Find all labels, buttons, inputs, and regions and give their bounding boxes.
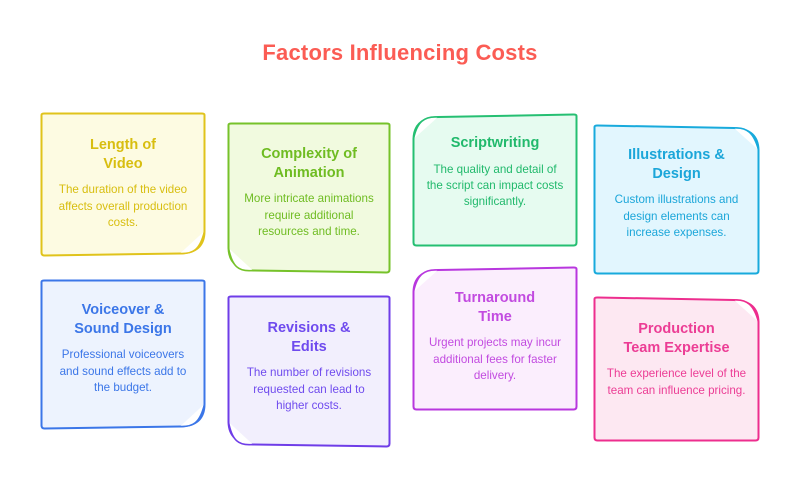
- card-heading: Complexity of Animation: [240, 145, 378, 182]
- infographic-canvas: Factors Influencing Costs Length of Vide…: [0, 0, 800, 503]
- factor-card-length-of-video[interactable]: Length of VideoThe duration of the video…: [40, 112, 206, 257]
- card-content: Revisions & EditsThe number of revisions…: [227, 319, 391, 414]
- page-title: Factors Influencing Costs: [0, 40, 800, 66]
- factor-card-turnaround-time[interactable]: Turnaround TimeUrgent projects may incur…: [412, 266, 578, 411]
- card-heading: Revisions & Edits: [240, 319, 378, 356]
- factor-card-revisions-and-edits[interactable]: Revisions & EditsThe number of revisions…: [227, 295, 391, 448]
- card-heading: Turnaround Time: [425, 289, 565, 326]
- card-description: The number of revisions requested can le…: [240, 365, 378, 414]
- card-description: Professional voiceovers and sound effect…: [53, 347, 193, 396]
- card-content: Voiceover & Sound DesignProfessional voi…: [40, 301, 206, 396]
- factor-card-scriptwriting[interactable]: ScriptwritingThe quality and detail of t…: [412, 113, 578, 247]
- card-description: Urgent projects may incur additional fee…: [425, 335, 565, 384]
- factor-card-illustrations-and-design[interactable]: Illustrations & DesignCustom illustratio…: [593, 124, 760, 275]
- card-description: The quality and detail of the script can…: [425, 162, 565, 211]
- card-content: Turnaround TimeUrgent projects may incur…: [412, 289, 578, 384]
- factor-card-voiceover-and-sound-design[interactable]: Voiceover & Sound DesignProfessional voi…: [40, 279, 206, 430]
- card-description: The duration of the video affects overal…: [53, 182, 193, 231]
- card-heading: Length of Video: [53, 136, 193, 173]
- card-content: Production Team ExpertiseThe experience …: [593, 320, 760, 399]
- card-heading: Voiceover & Sound Design: [53, 301, 193, 338]
- card-description: Custom illustrations and design elements…: [606, 192, 747, 241]
- card-heading: Production Team Expertise: [606, 320, 747, 357]
- card-content: Illustrations & DesignCustom illustratio…: [593, 146, 760, 241]
- factor-card-complexity-of-animation[interactable]: Complexity of AnimationMore intricate an…: [227, 122, 391, 274]
- card-heading: Illustrations & Design: [606, 146, 747, 183]
- card-heading: Scriptwriting: [425, 134, 565, 153]
- card-description: More intricate animations require additi…: [240, 191, 378, 240]
- card-content: ScriptwritingThe quality and detail of t…: [412, 134, 578, 211]
- card-content: Length of VideoThe duration of the video…: [40, 136, 206, 231]
- card-content: Complexity of AnimationMore intricate an…: [227, 145, 391, 240]
- factor-card-production-team-expertise[interactable]: Production Team ExpertiseThe experience …: [593, 296, 760, 442]
- card-description: The experience level of the team can inf…: [606, 366, 747, 399]
